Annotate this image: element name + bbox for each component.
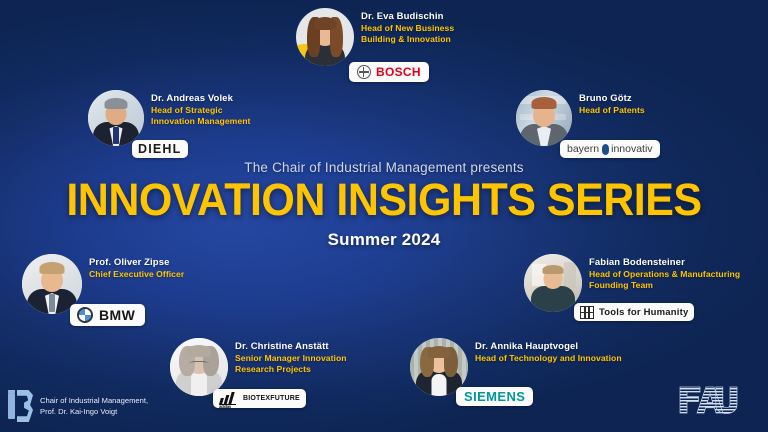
speaker-info: Fabian Bodensteiner Head of Operations &… [582, 254, 740, 291]
speaker-name: Fabian Bodensteiner [589, 257, 740, 269]
page-title: INNOVATION INSIGHTS SERIES [0, 178, 768, 224]
avatar [516, 90, 572, 146]
bmw-wordmark: BMW [99, 307, 135, 323]
speaker-name: Dr. Christine Anstätt [235, 341, 347, 353]
chair-line-1: Chair of Industrial Management, [40, 396, 148, 405]
title-block: The Chair of Industrial Management prese… [0, 160, 768, 250]
siemens-wordmark: SIEMENS [464, 389, 525, 404]
speaker-card-christine-anstaett[interactable]: Dr. Christine Anstätt Senior Manager Inn… [170, 338, 347, 396]
company-logo-diehl[interactable]: DIEHL [132, 140, 188, 158]
company-logo-tools-for-humanity[interactable]: Tools for Humanity [574, 303, 694, 321]
tfh-wordmark: Tools for Humanity [599, 307, 688, 318]
avatar [296, 8, 354, 66]
speaker-role-line1: Head of Patents [579, 105, 645, 116]
speaker-info: Dr. Annika Hauptvogel Head of Technology… [468, 338, 622, 364]
bayern-wordmark: bayern [567, 143, 599, 155]
speaker-card-annika-hauptvogel[interactable]: Dr. Annika Hauptvogel Head of Technology… [410, 338, 622, 396]
speaker-card-eva-budischin[interactable]: Dr. Eva Budischin Head of New Business B… [296, 8, 454, 66]
speaker-role-line2: Founding Team [589, 280, 740, 291]
bayern-diamond-icon [602, 144, 609, 155]
chair-credit: Chair of Industrial Management, Prof. Dr… [8, 390, 148, 422]
avatar [170, 338, 228, 396]
poster-canvas: The Chair of Industrial Management prese… [0, 0, 768, 432]
diehl-wordmark: DIEHL [138, 142, 182, 156]
speaker-role-line2: Research Projects [235, 364, 347, 375]
bmw-roundel-icon [77, 307, 93, 323]
chair-credit-text: Chair of Industrial Management, Prof. Dr… [34, 395, 148, 417]
company-logo-bosch[interactable]: BOSCH [349, 62, 429, 82]
bosch-logo-icon [357, 65, 371, 79]
company-logo-bayern-innovativ[interactable]: bayern innovativ [560, 140, 660, 158]
speaker-card-fabian-bodensteiner[interactable]: Fabian Bodensteiner Head of Operations &… [524, 254, 740, 312]
speaker-info: Dr. Christine Anstätt Senior Manager Inn… [228, 338, 347, 375]
speaker-name: Dr. Andreas Volek [151, 93, 250, 105]
speaker-role-line2: Building & Innovation [361, 34, 454, 45]
speaker-name: Bruno Götz [579, 93, 645, 105]
speaker-name: Dr. Eva Budischin [361, 11, 454, 23]
bosch-wordmark: BOSCH [376, 65, 421, 79]
ib-monogram-logo-icon [8, 390, 34, 422]
speaker-role-line1: Head of Technology and Innovation [475, 353, 622, 364]
speaker-card-bruno-goetz[interactable]: Bruno Götz Head of Patents bayern innova… [516, 90, 645, 146]
fau-logo-icon [678, 385, 756, 420]
speaker-card-andreas-volek[interactable]: Dr. Andreas Volek Head of Strategic Inno… [88, 90, 250, 146]
avatar [88, 90, 144, 146]
company-logo-adidas-biotexfuture[interactable]: adidas BIOTEXFUTURE [213, 389, 306, 408]
avatar [524, 254, 582, 312]
speaker-card-oliver-zipse[interactable]: Prof. Oliver Zipse Chief Executive Offic… [22, 254, 184, 314]
speaker-info: Dr. Eva Budischin Head of New Business B… [354, 8, 454, 45]
speaker-name: Prof. Oliver Zipse [89, 257, 184, 269]
speaker-role-line1: Senior Manager Innovation [235, 353, 347, 364]
speaker-role-line2: Innovation Management [151, 116, 250, 127]
kicker-text: The Chair of Industrial Management prese… [0, 160, 768, 175]
speaker-info: Dr. Andreas Volek Head of Strategic Inno… [144, 90, 250, 127]
innovativ-wordmark: innovativ [611, 143, 652, 155]
speaker-role-line1: Head of New Business [361, 23, 454, 34]
speaker-name: Dr. Annika Hauptvogel [475, 341, 622, 353]
chair-line-2: Prof. Dr. Kai-Ingo Voigt [40, 407, 117, 416]
adidas-logo-icon: adidas [219, 392, 237, 406]
speaker-info: Bruno Götz Head of Patents [572, 90, 645, 116]
company-logo-bmw[interactable]: BMW [70, 304, 145, 326]
speaker-role-line1: Chief Executive Officer [89, 269, 184, 280]
speaker-role-line1: Head of Strategic [151, 105, 250, 116]
speaker-role-line1: Head of Operations & Manufacturing [589, 269, 740, 280]
biotexfuture-wordmark: BIOTEXFUTURE [243, 395, 300, 402]
speaker-info: Prof. Oliver Zipse Chief Executive Offic… [82, 254, 184, 280]
tfh-mark-icon [580, 306, 594, 319]
subtitle-text: Summer 2024 [0, 230, 768, 250]
company-logo-siemens[interactable]: SIEMENS [456, 387, 533, 406]
